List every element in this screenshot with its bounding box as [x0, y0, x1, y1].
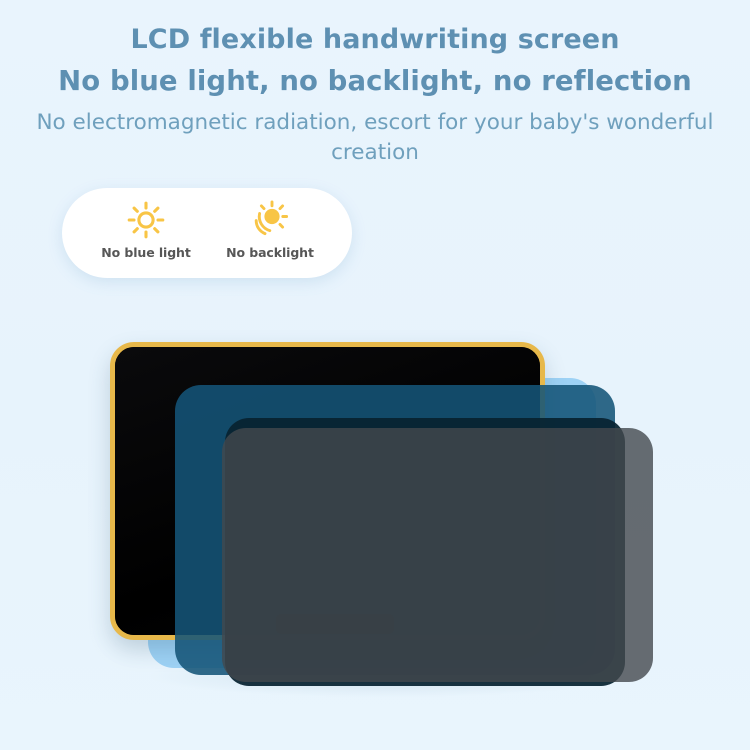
product-illustration: [0, 0, 750, 750]
gray-sheet: [222, 428, 653, 682]
promo-page: LCD flexible handwriting screen No blue …: [0, 0, 750, 750]
